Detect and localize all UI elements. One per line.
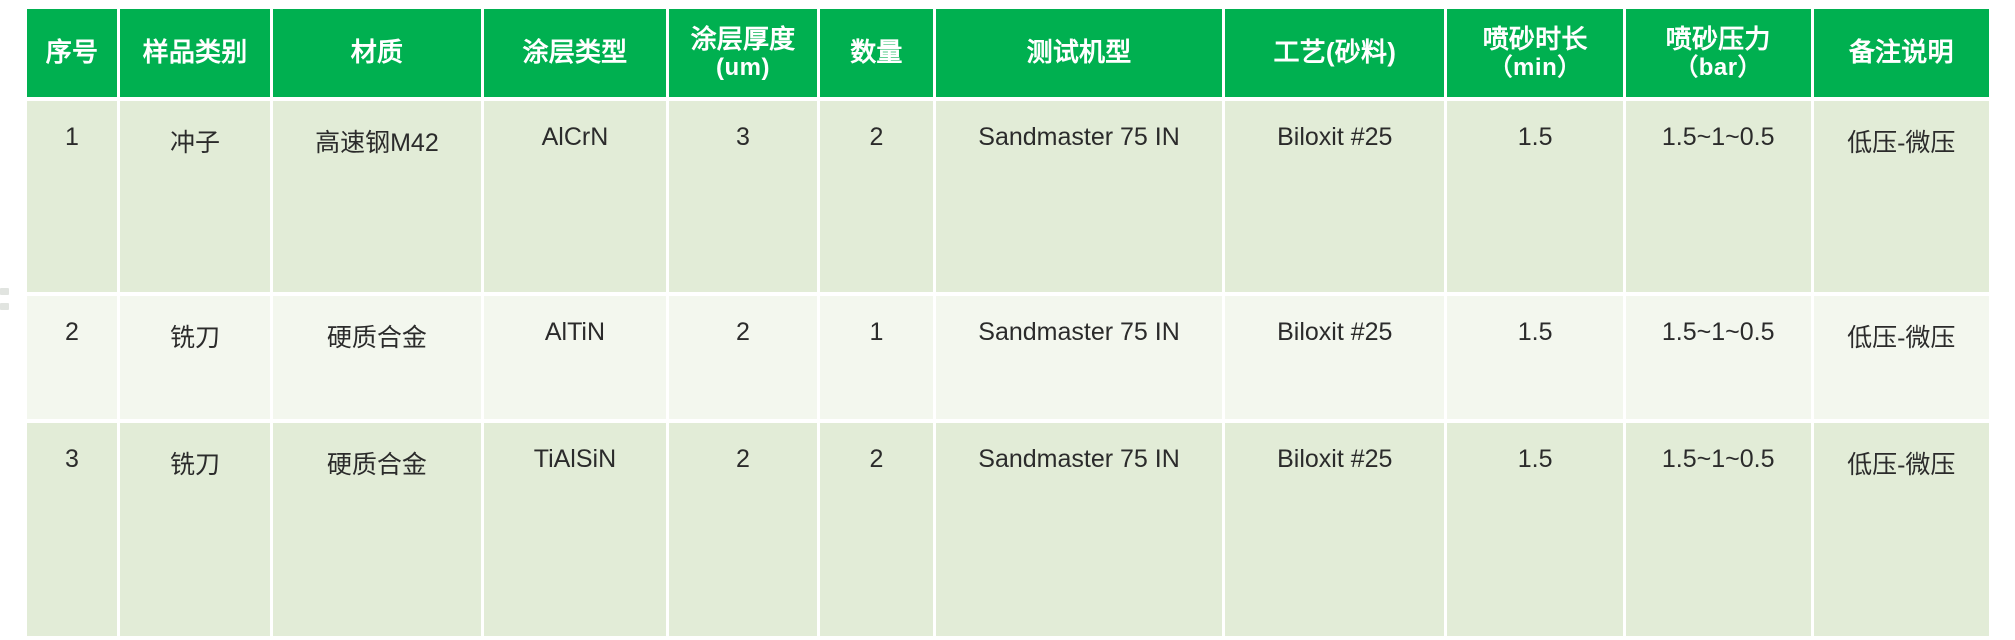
cell-qty[interactable]: 2 — [820, 423, 933, 636]
table-row[interactable]: 3 铣刀 硬质合金 TiAlSiN 2 2 Sandmaster 75 IN B… — [27, 423, 1989, 636]
column-header-test-machine[interactable]: 测试机型 — [936, 9, 1222, 97]
column-header-coating-type-label: 涂层类型 — [523, 37, 628, 67]
cell-note[interactable]: 低压-微压 — [1814, 101, 1989, 292]
column-header-quantity[interactable]: 数量 — [820, 9, 933, 97]
cell-seq[interactable]: 1 — [27, 101, 117, 292]
sample-test-table: 序号 样品类别 材质 涂层类型 涂层厚度 (um) 数量 — [24, 5, 1992, 640]
cell-qty[interactable]: 2 — [820, 101, 933, 292]
cell-press[interactable]: 1.5~1~0.5 — [1626, 296, 1811, 419]
header-row: 序号 样品类别 材质 涂层类型 涂层厚度 (um) 数量 — [27, 9, 1989, 97]
column-header-blast-duration[interactable]: 喷砂时长 （min） — [1447, 9, 1622, 97]
column-header-blast-duration-unit: （min） — [1447, 54, 1622, 81]
column-header-material[interactable]: 材质 — [273, 9, 481, 97]
column-header-blast-pressure[interactable]: 喷砂压力 （bar） — [1626, 9, 1811, 97]
cell-time[interactable]: 1.5 — [1447, 423, 1622, 636]
table-row[interactable]: 1 冲子 高速钢M42 AlCrN 3 2 Sandmaster 75 IN B… — [27, 101, 1989, 292]
cell-note[interactable]: 低压-微压 — [1814, 296, 1989, 419]
cell-seq[interactable]: 3 — [27, 423, 117, 636]
cell-thick[interactable]: 2 — [669, 423, 817, 636]
table-row[interactable]: 2 铣刀 硬质合金 AlTiN 2 1 Sandmaster 75 IN Bil… — [27, 296, 1989, 419]
column-header-seq[interactable]: 序号 — [27, 9, 117, 97]
column-header-quantity-label: 数量 — [850, 37, 902, 67]
column-header-seq-label: 序号 — [46, 37, 98, 67]
cell-proc[interactable]: Biloxit #25 — [1225, 101, 1444, 292]
column-header-sample-category-label: 样品类别 — [143, 37, 248, 67]
cell-cat[interactable]: 铣刀 — [120, 423, 270, 636]
column-header-sample-category[interactable]: 样品类别 — [120, 9, 270, 97]
column-header-coating-thickness-unit: (um) — [669, 54, 817, 81]
cell-thick[interactable]: 2 — [669, 296, 817, 419]
cell-note[interactable]: 低压-微压 — [1814, 423, 1989, 636]
cell-model[interactable]: Sandmaster 75 IN — [936, 296, 1222, 419]
column-header-material-label: 材质 — [351, 37, 403, 67]
cell-coat[interactable]: AlTiN — [484, 296, 666, 419]
column-header-blast-duration-label: 喷砂时长 — [1483, 24, 1588, 54]
column-header-process-media[interactable]: 工艺(砂料) — [1225, 9, 1444, 97]
cell-mat[interactable]: 硬质合金 — [273, 296, 481, 419]
table-body: 1 冲子 高速钢M42 AlCrN 3 2 Sandmaster 75 IN B… — [27, 101, 1989, 636]
column-header-process-media-label: 工艺(砂料) — [1274, 37, 1397, 67]
cell-thick[interactable]: 3 — [669, 101, 817, 292]
cell-coat[interactable]: TiAlSiN — [484, 423, 666, 636]
column-header-blast-pressure-unit: （bar） — [1626, 54, 1811, 81]
column-header-coating-thickness-label: 涂层厚度 — [691, 24, 796, 54]
cell-model[interactable]: Sandmaster 75 IN — [936, 101, 1222, 292]
cell-time[interactable]: 1.5 — [1447, 101, 1622, 292]
cell-cat[interactable]: 冲子 — [120, 101, 270, 292]
column-header-coating-thickness[interactable]: 涂层厚度 (um) — [669, 9, 817, 97]
cell-press[interactable]: 1.5~1~0.5 — [1626, 423, 1811, 636]
cell-model[interactable]: Sandmaster 75 IN — [936, 423, 1222, 636]
cell-proc[interactable]: Biloxit #25 — [1225, 423, 1444, 636]
cell-proc[interactable]: Biloxit #25 — [1225, 296, 1444, 419]
cell-coat[interactable]: AlCrN — [484, 101, 666, 292]
column-header-blast-pressure-label: 喷砂压力 — [1666, 24, 1771, 54]
cell-seq[interactable]: 2 — [27, 296, 117, 419]
cell-time[interactable]: 1.5 — [1447, 296, 1622, 419]
scan-artifact-mark — [0, 303, 9, 310]
column-header-remarks[interactable]: 备注说明 — [1814, 9, 1989, 97]
column-header-test-machine-label: 测试机型 — [1027, 37, 1132, 67]
cell-qty[interactable]: 1 — [820, 296, 933, 419]
cell-mat[interactable]: 高速钢M42 — [273, 101, 481, 292]
table-header: 序号 样品类别 材质 涂层类型 涂层厚度 (um) 数量 — [27, 9, 1989, 97]
column-header-coating-type[interactable]: 涂层类型 — [484, 9, 666, 97]
cell-cat[interactable]: 铣刀 — [120, 296, 270, 419]
spreadsheet-canvas: 序号 样品类别 材质 涂层类型 涂层厚度 (um) 数量 — [0, 0, 2015, 637]
cell-press[interactable]: 1.5~1~0.5 — [1626, 101, 1811, 292]
cell-mat[interactable]: 硬质合金 — [273, 423, 481, 636]
scan-artifact-mark — [0, 288, 9, 295]
column-header-remarks-label: 备注说明 — [1849, 37, 1954, 67]
